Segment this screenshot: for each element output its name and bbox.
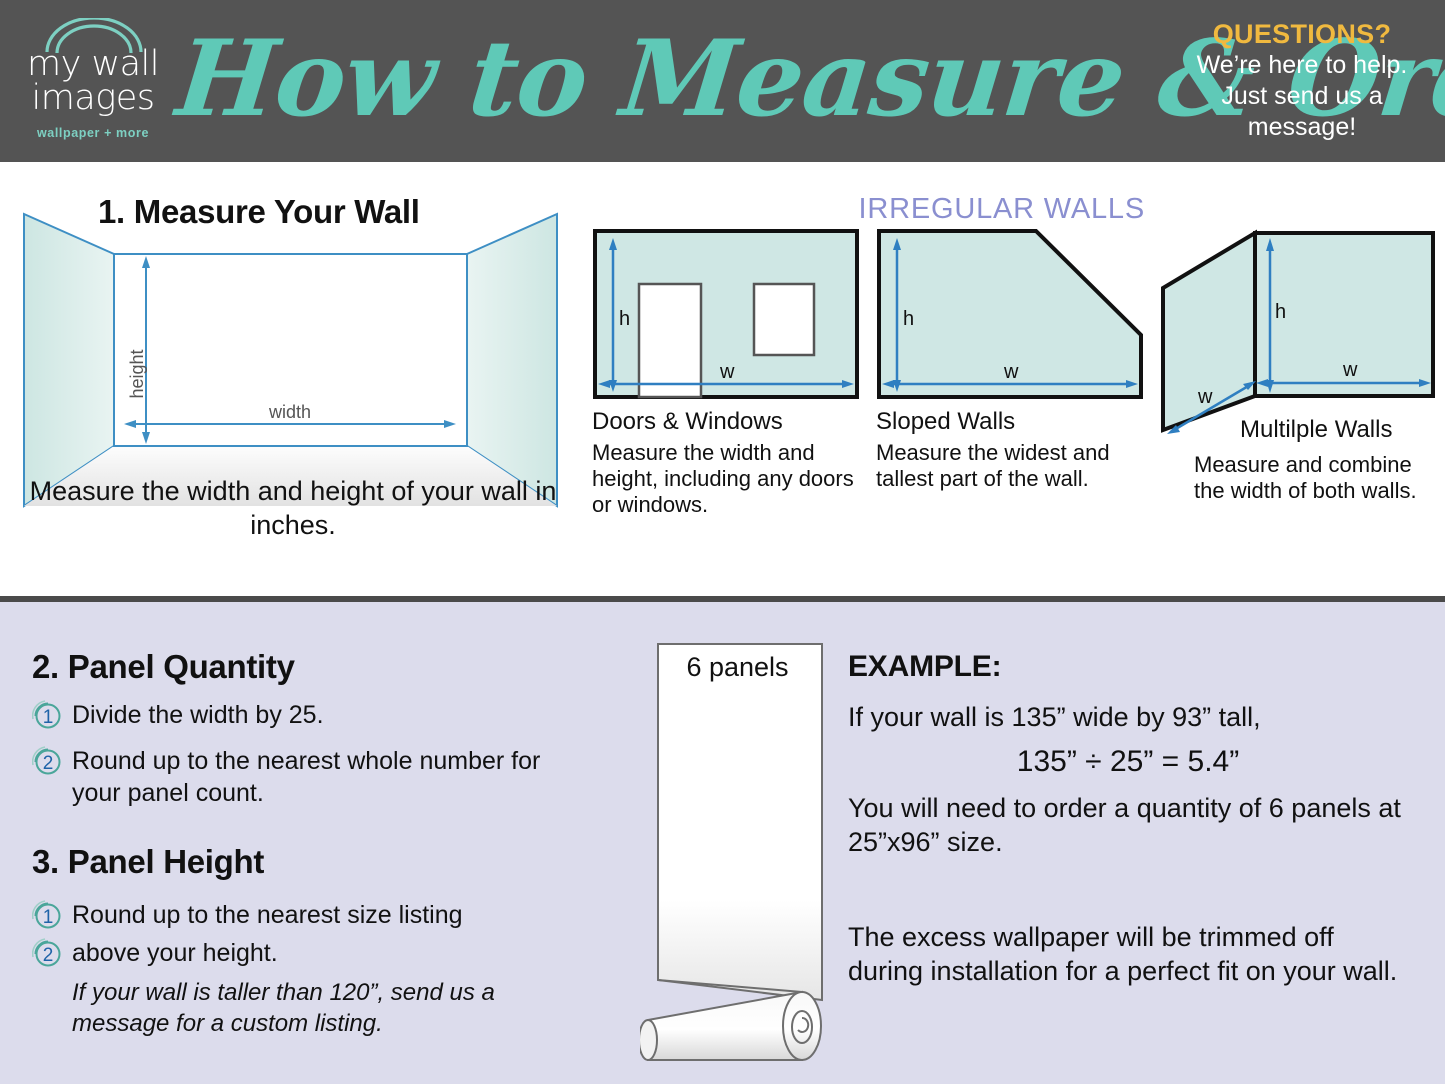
section3-title: 3. Panel Height	[32, 843, 264, 881]
step-badge-icon: 2	[32, 746, 64, 778]
section3-step-2: 2 above your height.	[32, 937, 552, 970]
section2-step-1: 1 Divide the width by 25.	[32, 699, 552, 732]
step-badge-icon: 2	[32, 938, 64, 970]
questions-body: We’re here to help. Just send us a messa…	[1177, 50, 1427, 143]
width-label: width	[268, 402, 311, 422]
h-label: h	[619, 308, 630, 330]
irregular-title-0: Doors & Windows	[592, 408, 860, 436]
wallpaper-roll-illustration	[640, 640, 840, 1075]
logo-line-2: images	[18, 80, 168, 116]
section3-step-2-text: above your height.	[72, 937, 278, 969]
svg-text:2: 2	[43, 945, 54, 966]
roll-panel-count-label: 6 panels	[640, 652, 835, 683]
section2-step-2: 2 Round up to the nearest whole number f…	[32, 745, 552, 809]
irregular-walls-heading: IRREGULAR WALLS	[845, 193, 1145, 226]
example-equation: 135” ÷ 25” = 5.4”	[848, 745, 1408, 779]
logo-line-1: my wall	[18, 46, 168, 82]
doors-windows-diagram: h w	[592, 228, 860, 400]
irregular-item-doors-windows: h w Doors & Windows Measure the width an…	[592, 228, 860, 518]
sloped-wall-diagram: h w	[876, 228, 1144, 400]
example-line-3: The excess wallpaper will be trimmed off…	[848, 920, 1408, 988]
example-line-2: You will need to order a quantity of 6 p…	[848, 791, 1408, 859]
section2-step-1-text: Divide the width by 25.	[72, 699, 324, 731]
logo-tagline: wallpaper + more	[18, 126, 168, 140]
page-title: How to Measure & Order	[171, 8, 1186, 148]
svg-text:2: 2	[43, 753, 54, 774]
irregular-title-1: Sloped Walls	[876, 408, 1144, 436]
header-bar: my wall images wallpaper + more How to M…	[0, 0, 1445, 162]
step-badge-icon: 1	[32, 900, 64, 932]
irregular-title-2: Multilple Walls	[1240, 416, 1392, 444]
section2-title: 2. Panel Quantity	[32, 648, 295, 686]
w-label: w	[1342, 359, 1358, 381]
infographic-page: my wall images wallpaper + more How to M…	[0, 0, 1445, 1084]
section3-step-1-text: Round up to the nearest size listing	[72, 899, 463, 931]
irregular-body-2: Measure and combine the width of both wa…	[1194, 452, 1445, 504]
section1-caption: Measure the width and height of your wal…	[18, 474, 568, 542]
h-label: h	[903, 308, 914, 330]
questions-block: QUESTIONS? We’re here to help. Just send…	[1177, 18, 1427, 143]
section3-note: If your wall is taller than 120”, send u…	[72, 977, 542, 1039]
step-badge-icon: 1	[32, 700, 64, 732]
svg-text:1: 1	[43, 907, 54, 928]
section2-step-2-text: Round up to the nearest whole number for…	[72, 745, 552, 809]
example-line-1: If your wall is 135” wide by 93” tall,	[848, 700, 1428, 734]
brand-logo: my wall images wallpaper + more	[18, 18, 168, 148]
irregular-item-sloped: h w Sloped Walls Measure the widest and …	[876, 228, 1144, 492]
irregular-body-1: Measure the widest and tallest part of t…	[876, 440, 1144, 492]
height-label: height	[127, 349, 147, 398]
svg-text:1: 1	[43, 707, 54, 728]
irregular-body-0: Measure the width and height, including …	[592, 440, 860, 518]
example-title: EXAMPLE:	[848, 650, 1001, 684]
section3-step-1: 1 Round up to the nearest size listing	[32, 899, 552, 932]
w-label: w	[719, 361, 735, 383]
w-label: w	[1003, 361, 1019, 383]
questions-heading: QUESTIONS?	[1177, 18, 1427, 50]
w-label-2: w	[1197, 386, 1213, 408]
h-label: h	[1275, 301, 1286, 323]
